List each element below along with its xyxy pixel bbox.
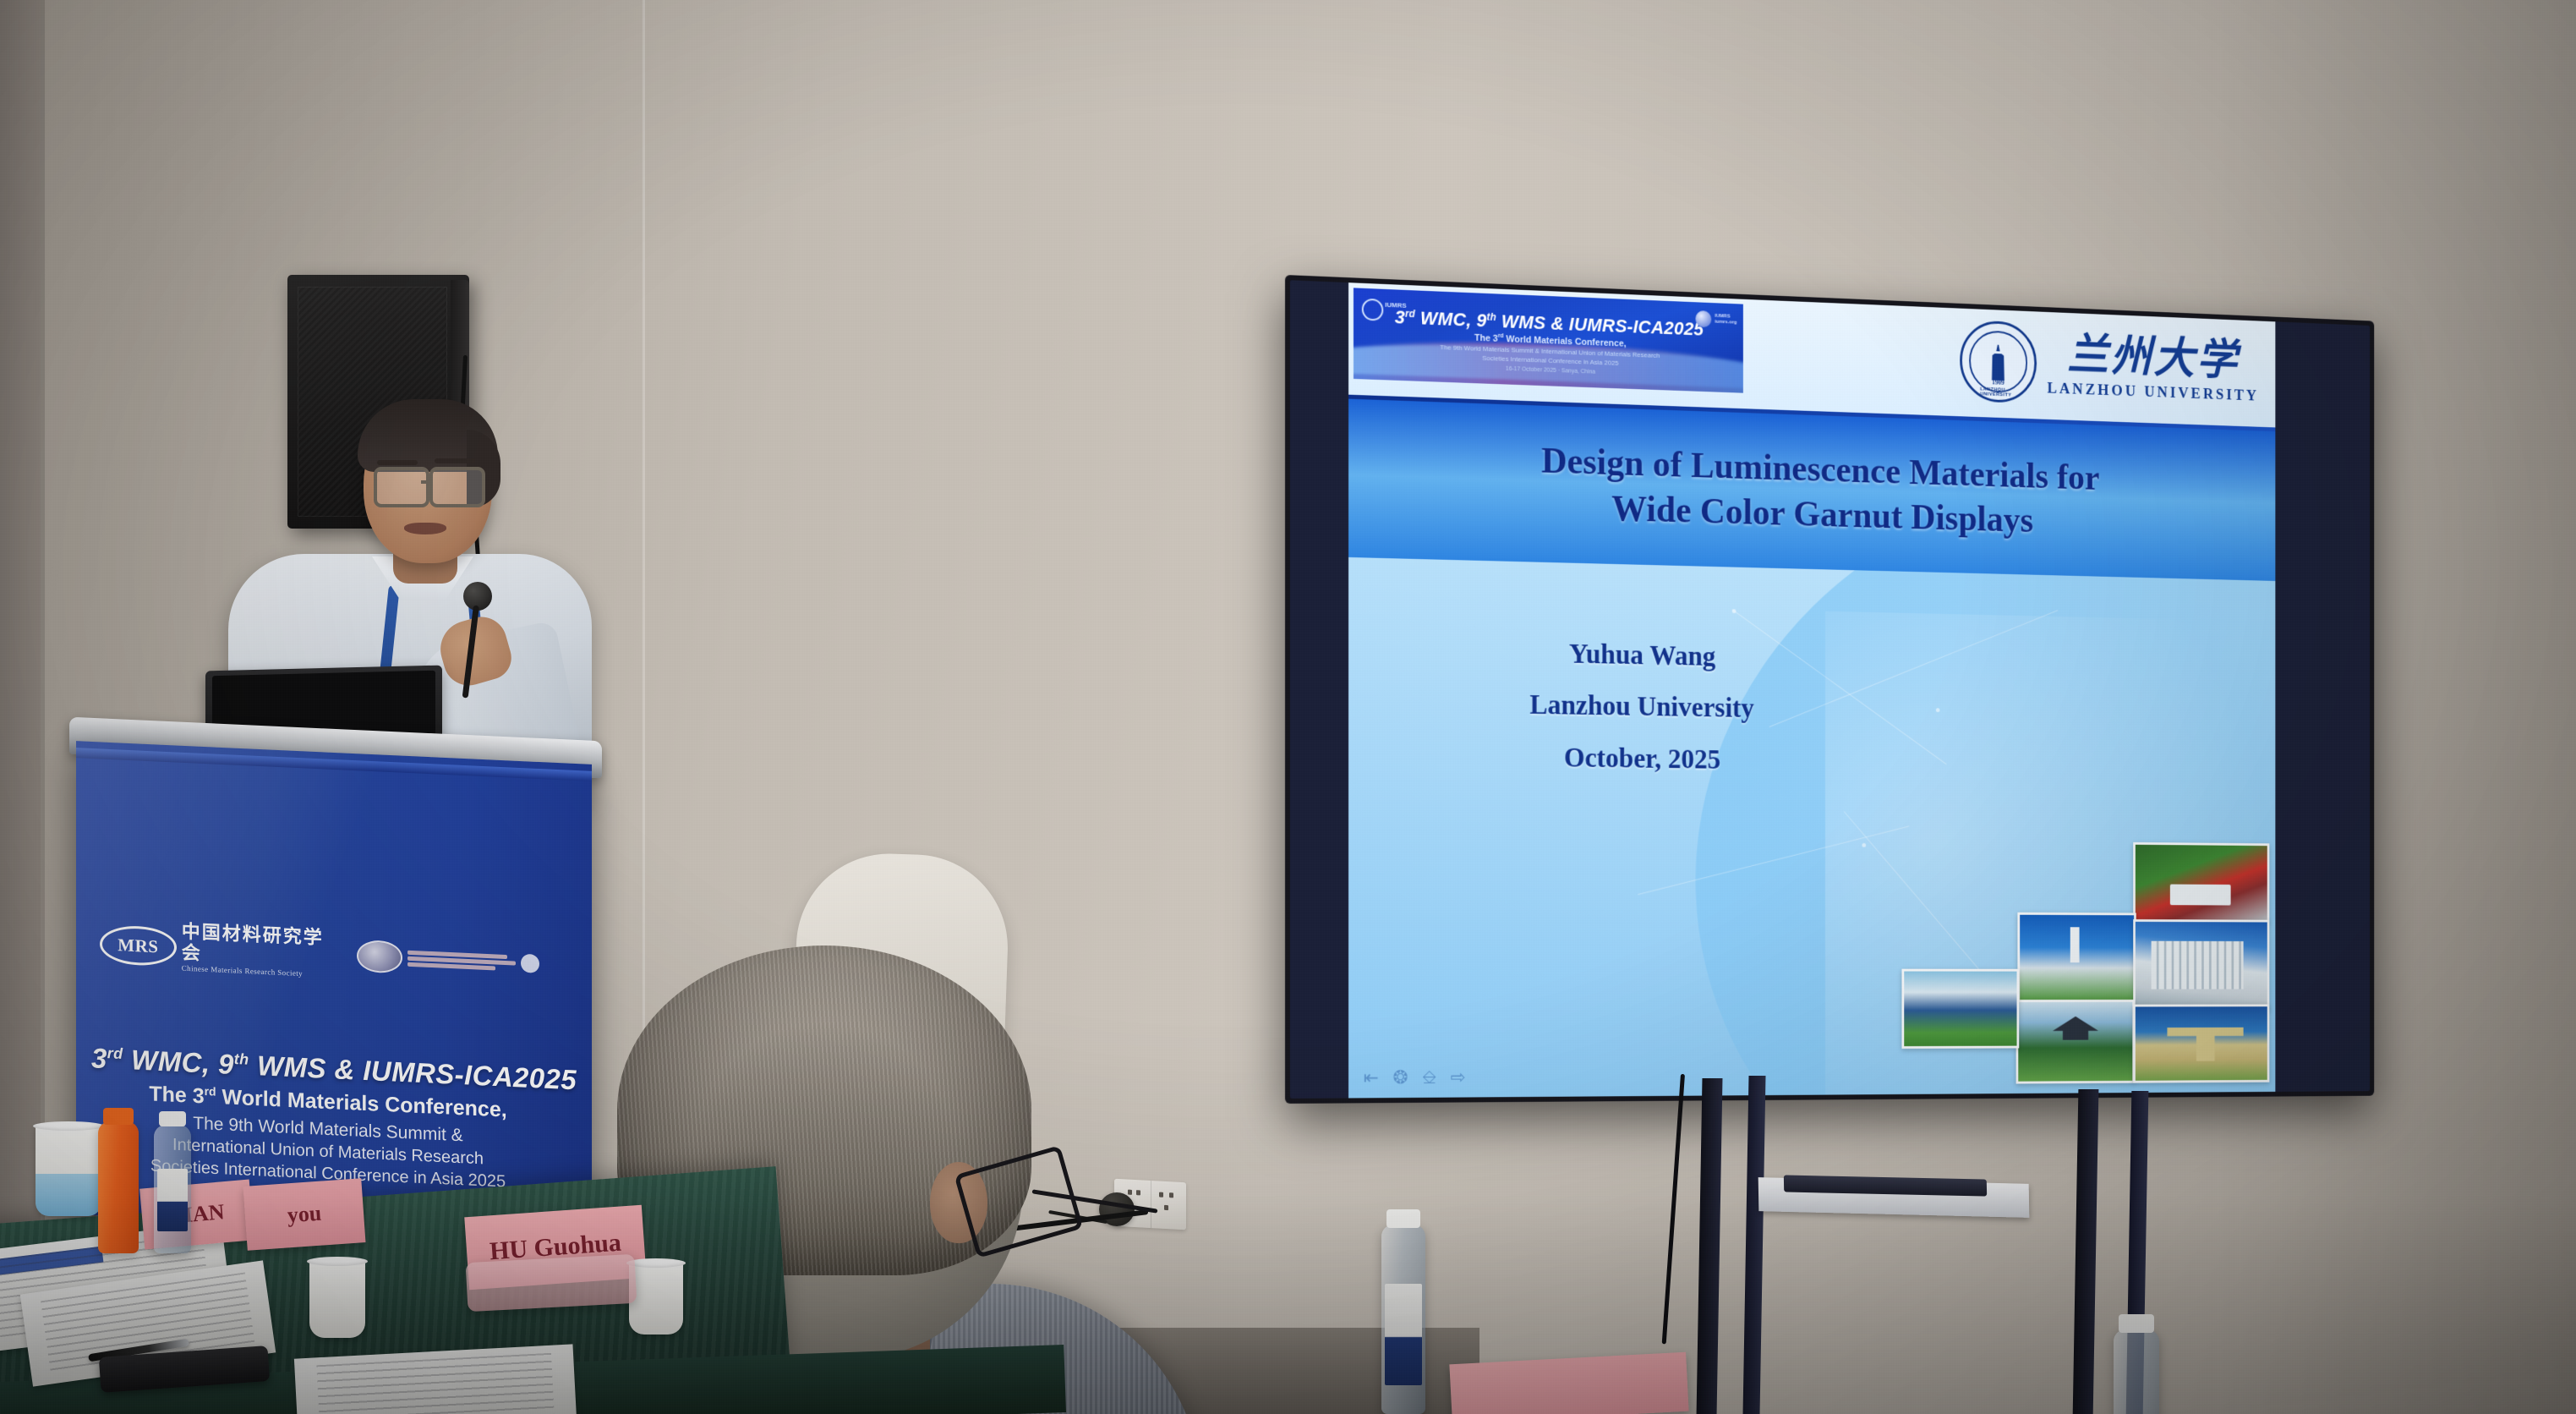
photo-vignette [0,0,2576,1414]
conference-room-photo: MRS 中国材料研究学会 Chinese Materials Research … [0,0,2576,1414]
